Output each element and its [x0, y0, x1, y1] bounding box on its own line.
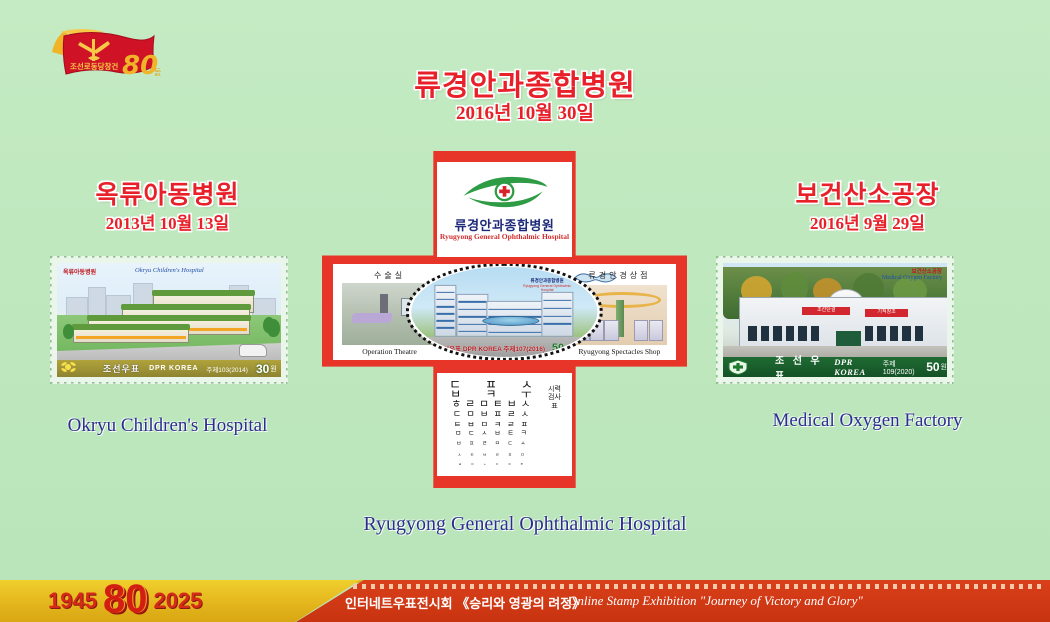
stamp-right-theme: 주제109(2020): [883, 359, 918, 376]
banner-anniversary-number: 80: [103, 579, 148, 619]
eye-chart-glyph: ㅂ: [467, 420, 474, 430]
eye-with-cross-logo-icon: [437, 170, 572, 210]
eye-chart-row: ㅌㅂㅁㅋㄹㅍ: [449, 420, 533, 430]
bottom-banner: 1945 80 2025 인터네트우표전시회 《승리와 영광의 려정》 Onli…: [0, 580, 1050, 622]
eye-chart-glyph: ㅌ: [507, 430, 513, 439]
eye-chart-glyph: ㅅ: [521, 441, 526, 449]
oval-value: 50: [552, 342, 564, 354]
eye-chart-glyph: ㅍ: [521, 420, 528, 430]
eye-chart-glyph: ㅂ: [456, 441, 461, 449]
flower-icon: [61, 359, 81, 375]
stamp-left-header-en: Okryu Children's Hospital: [135, 267, 204, 274]
oval-country-en: DPR KOREA: [463, 346, 502, 353]
eye-chart-glyph: ㄷ: [468, 430, 474, 439]
eye-chart-glyph: ㅂ: [508, 462, 511, 467]
eye-chart-glyph: ㅁ: [455, 430, 461, 439]
eye-chart-glyph: ㅍ: [493, 409, 502, 420]
eye-chart-glyph: ㄹ: [507, 409, 516, 420]
stamp-right-country-kr: 조 선 우 표: [775, 352, 825, 377]
stamp-left-value: 30: [256, 362, 269, 376]
hospital-building: [73, 293, 263, 343]
eye-chart-glyph: ㅋ: [521, 430, 527, 439]
exhibition-title-en: Online Stamp Exhibition "Journey of Vict…: [568, 593, 863, 609]
oval-logo-en: Ryugyong General Ophthalmic Hospital: [519, 284, 575, 292]
banner-dotted-rule: [326, 584, 1044, 589]
exhibition-title-kr: 인터네트우표전시회 《승리와 영광의 려정》: [345, 593, 585, 612]
eye-chart-glyph: ㅁ: [471, 462, 474, 467]
stamp-left-theme: 주제103(2014): [206, 364, 248, 374]
eye-chart-glyph: ㄷ: [508, 441, 513, 449]
stamp-left-footer: 조선우표 DPR KOREA 주제103(2014) 30 원: [57, 360, 281, 377]
stamp-right-artwork: 조선단결 기적창조 보건산소공장 Medical Oxygen Factory …: [723, 263, 947, 377]
eye-chart: ㄷㅍㅅㅂㅋㅜㅎㄹㅁㅌㅂㅅㄷㅁㅂㅍㄹㅅㅌㅂㅁㅋㄹㅍㅁㄷㅅㅂㅌㅋㅂㅍㄹㅁㄷㅅㅅㅌㅂㄹ…: [449, 380, 533, 470]
banner-gold-section: 1945 80 2025: [0, 580, 360, 622]
factory-building: 조선단결 기적창조: [739, 297, 947, 349]
caption-okryu: Okryu Children's Hospital: [35, 415, 300, 437]
stamp-right-value: 50: [926, 360, 939, 374]
eye-chart-glyph: ㅅ: [483, 462, 486, 467]
eye-chart-glyph: ㄷ: [453, 409, 462, 420]
center-stamp-date: 2016년 10월 30일: [0, 98, 1050, 125]
eye-chart-glyph: ㄹ: [459, 462, 462, 467]
eye-chart-glyph: ㄹ: [495, 452, 499, 458]
stamp-ryugyong-ophthalmic-hospital[interactable]: 류경안과종합병원 Ryugyong General Ophthalmic Hos…: [322, 151, 687, 488]
eye-chart-row: ㅁㄷㅅㅂㅌㅋ: [449, 430, 533, 440]
hospital-oval-vignette: 류경안과종합병원 Ryugyong General Ophthalmic Hos…: [412, 267, 597, 357]
eye-chart-glyph: ㅂ: [494, 430, 500, 439]
eye-chart-glyph: ㅍ: [469, 441, 474, 449]
panel-label-kr: 수술실: [338, 270, 441, 281]
banner-year-start: 1945: [48, 588, 97, 614]
stamp-left-artwork: 옥류아동병원 Okryu Children's Hospital 조선우표 DP…: [57, 263, 281, 377]
eye-chart-glyph: ㅌ: [470, 452, 474, 458]
operating-bed: [351, 313, 392, 323]
stamp-right-header-kr: 보건산소공장: [882, 267, 942, 275]
eye-chart-glyph: ㅂ: [483, 452, 487, 458]
entrance-canopy: [482, 316, 540, 326]
caption-oxygen-factory: Medical Oxygen Factory: [735, 410, 1000, 432]
stamp-right-country-en: DPR KOREA: [834, 357, 874, 377]
eye-chart-glyph: ㄹ: [482, 441, 487, 449]
eye-chart-row: ㅂㅍㄹㅁㄷㅅ: [449, 440, 533, 450]
cross-middle-panel: 수술실 Operation Theatre 류경안경상점 Ryugyong: [333, 264, 676, 360]
stamp-left-country-en: DPR KOREA: [149, 365, 198, 372]
eye-chart-glyph: ㅁ: [466, 409, 475, 420]
eye-chart-glyph: ㅅ: [481, 430, 487, 439]
eye-chart-glyph: ㅂ: [480, 409, 489, 420]
oval-theme: 주제107(2016): [503, 346, 545, 353]
oval-logo: 류경안과종합병원 Ryugyong General Ophthalmic Hos…: [519, 278, 575, 294]
center-logo-en: Ryugyong General Ophthalmic Hospital: [437, 232, 572, 241]
left-stamp-date: 2013년 10월 13일: [35, 209, 300, 234]
car: [239, 344, 267, 357]
tree: [63, 324, 74, 339]
eye-chart-glyph: ㄷ: [496, 462, 499, 467]
eye-chart-row: ㄷㅁㅂㅍㄹㅅ: [449, 410, 533, 420]
stamp-left-country-kr: 조선우표: [103, 362, 140, 375]
stamp-right-header-en: Medical Oxygen Factory: [882, 275, 942, 281]
building-sign-left: 조선단결: [802, 307, 850, 315]
stamp-right-footer: 조 선 우 표 DPR KOREA 주제109(2020) 50 원: [723, 357, 947, 377]
tree: [263, 317, 275, 333]
cross-top-panel: 류경안과종합병원 Ryugyong General Ophthalmic Hos…: [437, 162, 572, 256]
stamp-left-currency: 원: [270, 364, 276, 374]
eye-chart-label: 시력검사표: [545, 386, 564, 412]
eye-chart-glyph: ㅌ: [454, 420, 461, 430]
panel-label-kr: 류경안경상점: [568, 270, 671, 281]
eye-chart-glyph: ㅁ: [481, 420, 488, 430]
stamp-okryu-childrens-hospital[interactable]: 옥류아동병원 Okryu Children's Hospital 조선우표 DP…: [50, 256, 288, 384]
eye-chart-glyph: ㅁ: [495, 441, 500, 449]
right-stamp-title: 보건산소공장: [735, 175, 1000, 211]
oval-footer: 조선우표 DPR KOREA 주제107(2016) 50 원: [412, 342, 597, 354]
eye-chart-glyph: ㅍ: [508, 452, 512, 458]
cross-bottom-panel: ㄷㅍㅅㅂㅋㅜㅎㄹㅁㅌㅂㅅㄷㅁㅂㅍㄹㅅㅌㅂㅁㅋㄹㅍㅁㄷㅅㅂㅌㅋㅂㅍㄹㅁㄷㅅㅅㅌㅂㄹ…: [437, 373, 572, 476]
banner-year-end: 2025: [153, 588, 202, 614]
eye-chart-glyph: ㅅ: [521, 409, 530, 420]
right-stamp-date: 2016년 9월 29일: [735, 209, 1000, 234]
caption-ryugyong: Ryugyong General Ophthalmic Hospital: [325, 513, 725, 536]
eye-chart-glyph: ㅋ: [494, 420, 501, 430]
eye-chart-glyph: ㅁ: [520, 452, 524, 458]
left-stamp-title: 옥류아동병원: [35, 175, 300, 211]
eye-chart-glyph: ㅌ: [520, 462, 523, 467]
oval-currency: 원: [566, 346, 572, 353]
eye-chart-glyph: ㄹ: [507, 420, 514, 430]
building-sign-right: 기적창조: [865, 309, 909, 317]
stamp-left-header-kr: 옥류아동병원: [63, 267, 96, 276]
poster-canvas: 조선로동당창건 80 돐 류경안과종합병원 2016년 10월 30일 옥류아동…: [0, 0, 1050, 622]
stamp-right-header: 보건산소공장 Medical Oxygen Factory: [882, 267, 942, 281]
eye-chart-row: ㄹㅁㅅㄷㅂㅌ: [449, 460, 533, 470]
eye-chart-row: ㅅㅌㅂㄹㅍㅁ: [449, 450, 533, 460]
oval-country-kr: 조선우표: [437, 346, 461, 353]
stamp-medical-oxygen-factory[interactable]: 조선단결 기적창조 보건산소공장 Medical Oxygen Factory …: [716, 256, 954, 384]
medical-cross-shield-icon: [727, 359, 749, 375]
stamp-right-currency: 원: [941, 362, 947, 372]
eye-chart-glyph: ㅅ: [458, 452, 462, 458]
